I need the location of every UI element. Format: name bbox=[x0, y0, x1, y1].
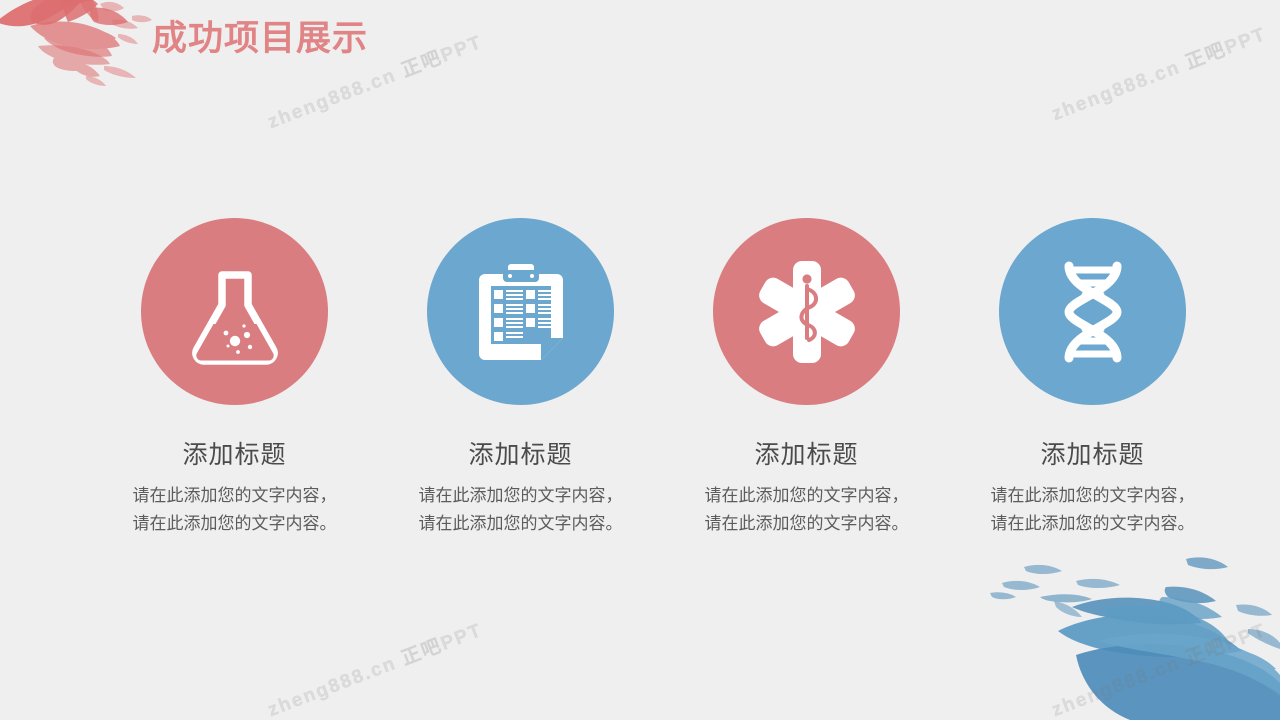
card-description-3: 请在此添加您的文字内容， 请在此添加您的文字内容。 bbox=[705, 482, 909, 538]
watermark-bottom-right: zheng888.cn 正吧PPT bbox=[1047, 615, 1270, 720]
card-title-3: 添加标题 bbox=[754, 438, 858, 472]
card-description-1: 请在此添加您的文字内容， 请在此添加您的文字内容。 bbox=[133, 482, 337, 538]
page-title: 成功项目展示 bbox=[152, 15, 368, 63]
feature-card-1[interactable]: 添加标题 请在此添加您的文字内容， 请在此添加您的文字内容。 bbox=[96, 218, 373, 538]
watermark-top-right: zheng888.cn 正吧PPT bbox=[1047, 19, 1270, 126]
flask-icon bbox=[176, 253, 294, 371]
icon-circle-4[interactable] bbox=[999, 218, 1186, 405]
icon-circle-2[interactable] bbox=[427, 218, 614, 405]
card-title-2: 添加标题 bbox=[468, 438, 572, 472]
star-of-life-icon bbox=[748, 253, 866, 371]
watermark-bottom-left: zheng888.cn 正吧PPT bbox=[263, 615, 486, 720]
card-description-4: 请在此添加您的文字内容， 请在此添加您的文字内容。 bbox=[991, 482, 1195, 538]
feature-card-3[interactable]: 添加标题 请在此添加您的文字内容， 请在此添加您的文字内容。 bbox=[668, 218, 945, 538]
clipboard-icon bbox=[465, 256, 577, 368]
blue-ink-brush-decoration bbox=[980, 545, 1280, 720]
feature-cards-row: 添加标题 请在此添加您的文字内容， 请在此添加您的文字内容。 bbox=[0, 218, 1280, 538]
card-title-4: 添加标题 bbox=[1040, 438, 1144, 472]
dna-icon bbox=[1037, 256, 1149, 368]
card-title-1: 添加标题 bbox=[182, 438, 286, 472]
feature-card-2[interactable]: 添加标题 请在此添加您的文字内容， 请在此添加您的文字内容。 bbox=[382, 218, 659, 538]
slide-canvas: 成功项目展示 bbox=[0, 0, 1280, 720]
red-ink-brush-decoration bbox=[0, 0, 174, 100]
icon-circle-1[interactable] bbox=[141, 218, 328, 405]
icon-circle-3[interactable] bbox=[713, 218, 900, 405]
card-description-2: 请在此添加您的文字内容， 请在此添加您的文字内容。 bbox=[419, 482, 623, 538]
feature-card-4[interactable]: 添加标题 请在此添加您的文字内容， 请在此添加您的文字内容。 bbox=[954, 218, 1231, 538]
